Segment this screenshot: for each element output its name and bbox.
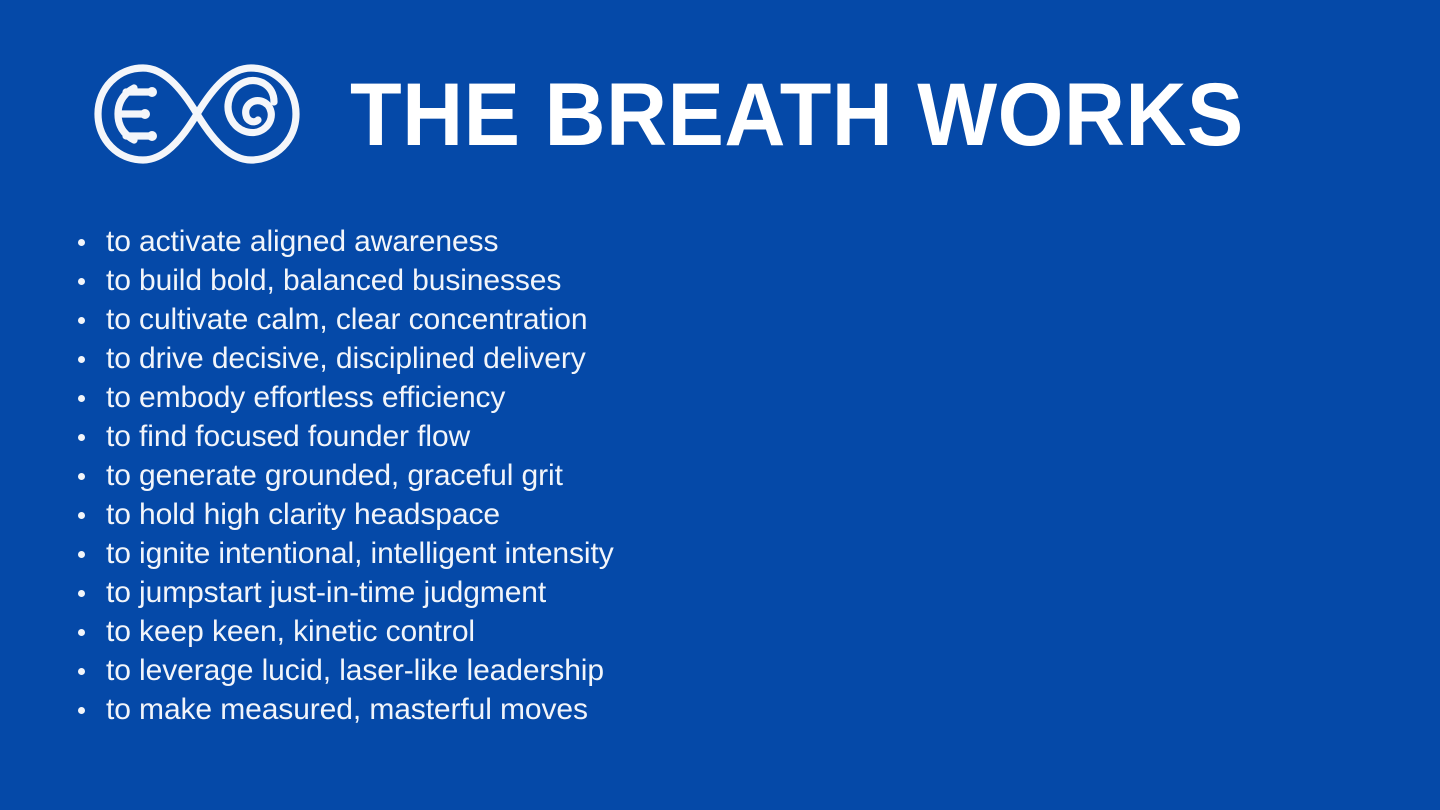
bullet-dot-icon <box>78 551 85 558</box>
list-item: to cultivate calm, clear concentration <box>72 300 690 339</box>
bullet-dot-icon <box>78 707 85 714</box>
bullet-dot-icon <box>78 278 85 285</box>
bullet-dot-icon <box>78 434 85 441</box>
bullet-column-right: to nurture nervous-system nourishment to… <box>690 222 1440 729</box>
list-item: to hold high clarity headspace <box>72 495 690 534</box>
list-item: to jumpstart just-in-time judgment <box>72 573 690 612</box>
list-item-label: to ignite intentional, intelligent inten… <box>106 537 614 570</box>
slide-root: THE BREATH WORKS to activate aligned awa… <box>0 0 1440 810</box>
list-item-label: to make measured, masterful moves <box>106 693 588 726</box>
list-item-label: to cultivate calm, clear concentration <box>106 303 587 336</box>
bullet-dot-icon <box>78 473 85 480</box>
bullet-dot-icon <box>78 668 85 675</box>
list-item: to build bold, balanced businesses <box>72 261 690 300</box>
list-item: to embody effortless efficiency <box>72 378 690 417</box>
list-item: to find focused founder flow <box>72 417 690 456</box>
bullet-dot-icon <box>78 317 85 324</box>
list-item: to ignite intentional, intelligent inten… <box>72 534 690 573</box>
bullet-column-left: to activate aligned awareness to build b… <box>0 222 690 729</box>
list-item: to generate grounded, graceful grit <box>72 456 690 495</box>
list-item-label: to activate aligned awareness <box>106 225 498 258</box>
list-item: to make measured, masterful moves <box>72 690 690 729</box>
bullet-dot-icon <box>78 590 85 597</box>
list-item: to activate aligned awareness <box>72 222 690 261</box>
list-item-label: to embody effortless efficiency <box>106 381 505 414</box>
bullet-dot-icon <box>78 395 85 402</box>
list-item-label: to drive decisive, disciplined delivery <box>106 342 586 375</box>
brand-header: THE BREATH WORKS <box>88 52 1291 176</box>
bullet-list-left: to activate aligned awareness to build b… <box>72 222 690 729</box>
list-item-label: to hold high clarity headspace <box>106 498 500 531</box>
list-item-label: to generate grounded, graceful grit <box>106 459 563 492</box>
bullet-dot-icon <box>78 629 85 636</box>
list-item-label: to keep keen, kinetic control <box>106 615 475 648</box>
bullet-columns: to activate aligned awareness to build b… <box>0 222 1440 729</box>
list-item-label: to find focused founder flow <box>106 420 470 453</box>
list-item: to leverage lucid, laser-like leadership <box>72 651 690 690</box>
infinity-spiral-logo <box>88 58 306 170</box>
list-item: to drive decisive, disciplined delivery <box>72 339 690 378</box>
bullet-dot-icon <box>78 512 85 519</box>
bullet-dot-icon <box>78 239 85 246</box>
list-item-label: to jumpstart just-in-time judgment <box>106 576 546 609</box>
list-item-label: to build bold, balanced businesses <box>106 264 561 297</box>
list-item-label: to leverage lucid, laser-like leadership <box>106 654 604 687</box>
bullet-dot-icon <box>78 356 85 363</box>
page-title: THE BREATH WORKS <box>350 70 1244 159</box>
list-item: to keep keen, kinetic control <box>72 612 690 651</box>
